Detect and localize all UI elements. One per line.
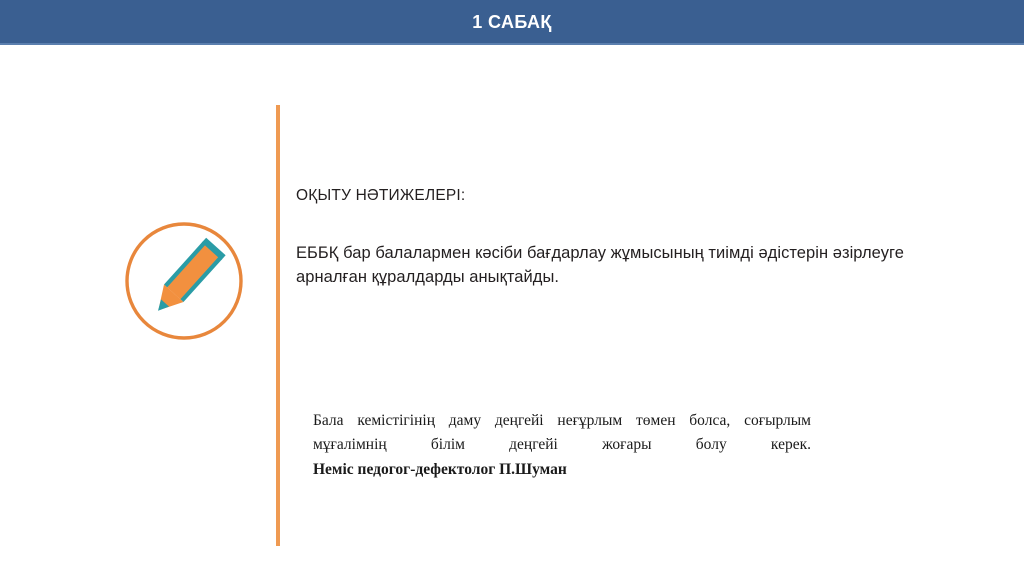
accent-vertical-rule — [276, 105, 280, 546]
quote-text: Бала кемістігінің даму деңгейі неғұрлым … — [313, 409, 811, 456]
quote-attribution: Неміс педогог-дефектолог П.Шуман — [313, 456, 811, 482]
main-content-column: ОҚЫТУ НӘТИЖЕЛЕРІ: ЕББҚ бар балалармен кә… — [296, 186, 936, 290]
slide-header: 1 САБАҚ — [0, 0, 1024, 45]
quote-block: Бала кемістігінің даму деңгейі неғұрлым … — [313, 409, 811, 482]
pencil-in-circle-icon — [124, 221, 244, 341]
learning-outcomes-label: ОҚЫТУ НӘТИЖЕЛЕРІ: — [296, 186, 936, 207]
page-title: 1 САБАҚ — [472, 13, 552, 31]
learning-outcomes-body: ЕББҚ бар балалармен кәсіби бағдарлау жұм… — [296, 207, 936, 290]
